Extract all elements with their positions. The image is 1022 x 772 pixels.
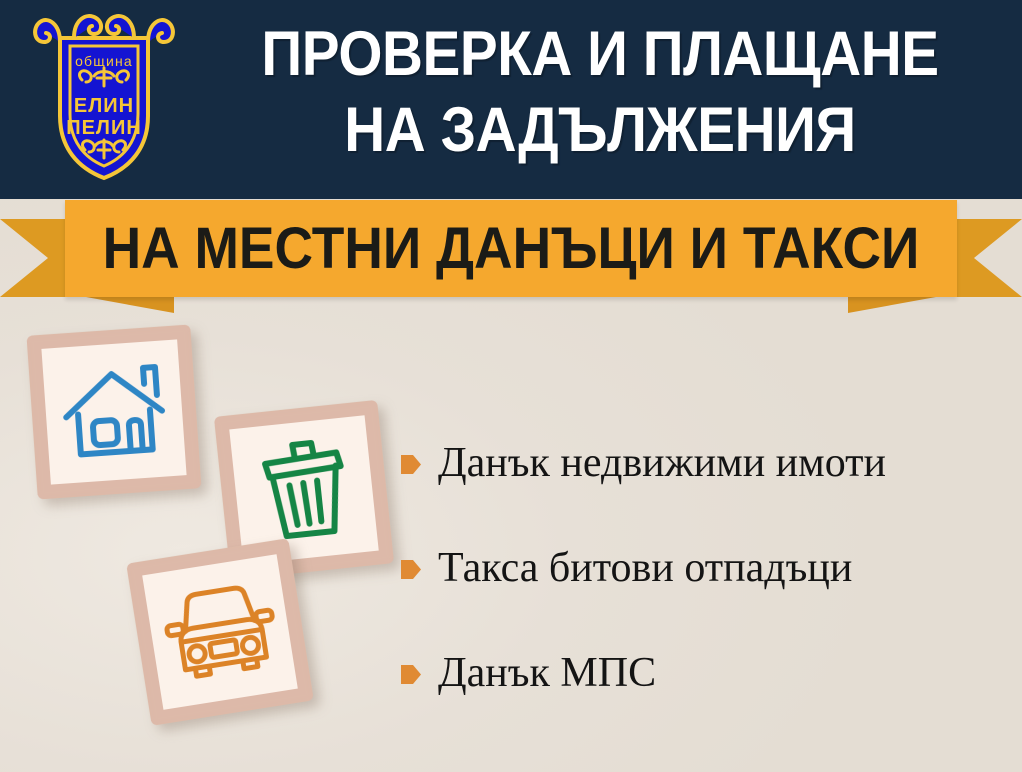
list-item-label: Данък МПС [438, 652, 656, 694]
header-bar: община ЕЛИН ПЕЛИН [0, 0, 1022, 199]
pentagon-arrow-bullet-icon [400, 663, 422, 686]
coat-of-arms-icon: община ЕЛИН ПЕЛИН [24, 8, 184, 190]
list-item[interactable]: Такса битови отпадъци [400, 535, 1010, 601]
list-item[interactable]: Данък МПС [400, 640, 1010, 706]
tax-type-list: Данък недвижими имоти Такса битови отпад… [400, 430, 1010, 706]
list-item-label: Такса битови отпадъци [438, 547, 852, 589]
stamp-car [115, 527, 326, 738]
list-item[interactable]: Данък недвижими имоти [400, 430, 1010, 496]
ribbon-subtitle: НА МЕСТНИ ДАНЪЦИ И ТАКСИ [101, 200, 922, 297]
svg-text:ПЕЛИН: ПЕЛИН [66, 117, 142, 139]
list-item-label: Данък недвижими имоти [438, 442, 886, 484]
pentagon-arrow-bullet-icon [400, 453, 422, 476]
ribbon-banner: НА МЕСТНИ ДАНЪЦИ И ТАКСИ [0, 197, 1022, 315]
svg-text:ЕЛИН: ЕЛИН [74, 95, 134, 117]
page-title: ПРОВЕРКА И ПЛАЩАНЕ НА ЗАДЪЛЖЕНИЯ [227, 16, 972, 168]
poster-root: община ЕЛИН ПЕЛИН [0, 0, 1022, 772]
pentagon-arrow-bullet-icon [400, 558, 422, 581]
stamp-house [16, 314, 212, 510]
